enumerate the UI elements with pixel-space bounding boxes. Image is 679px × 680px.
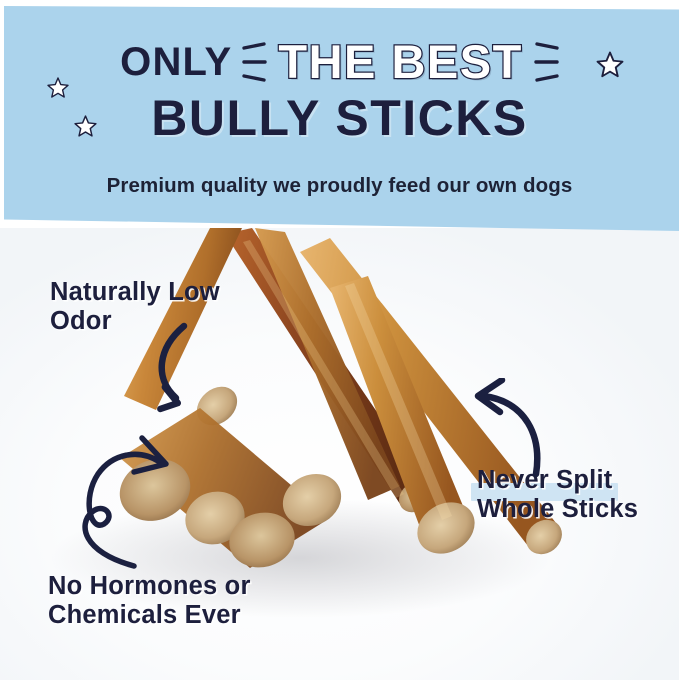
- headline-word-only: ONLY: [120, 42, 232, 82]
- banner-subtitle: Premium quality we proudly feed our own …: [0, 174, 679, 198]
- callout-naturally-low-odor: Naturally Low Odor: [50, 278, 220, 336]
- headline-word-the-best: THE BEST: [278, 38, 522, 85]
- callout-line-1-wrapper: Never Split: [477, 466, 638, 495]
- callout-line-1: Naturally Low: [50, 278, 220, 307]
- burst-lines-icon: [533, 39, 559, 85]
- headline-line-2: BULLY STICKS: [0, 93, 679, 143]
- callout-line-1: No Hormones or: [48, 572, 251, 601]
- callout-line-2: Chemicals Ever: [48, 601, 251, 630]
- callout-line-1: Never Split: [477, 466, 612, 495]
- callout-no-hormones-or-chemicals-ever: No Hormones or Chemicals Ever: [48, 572, 251, 630]
- product-infographic-poster: ONLY THE BEST BULLY STICKS Premium quali…: [0, 0, 679, 680]
- callout-line-2: Odor: [50, 307, 220, 336]
- headline-line-1: ONLY THE BEST: [0, 38, 679, 85]
- callout-line-2: Whole Sticks: [477, 495, 638, 524]
- callout-never-split-whole-sticks: Never Split Whole Sticks: [477, 466, 638, 524]
- burst-lines-icon: [242, 39, 268, 85]
